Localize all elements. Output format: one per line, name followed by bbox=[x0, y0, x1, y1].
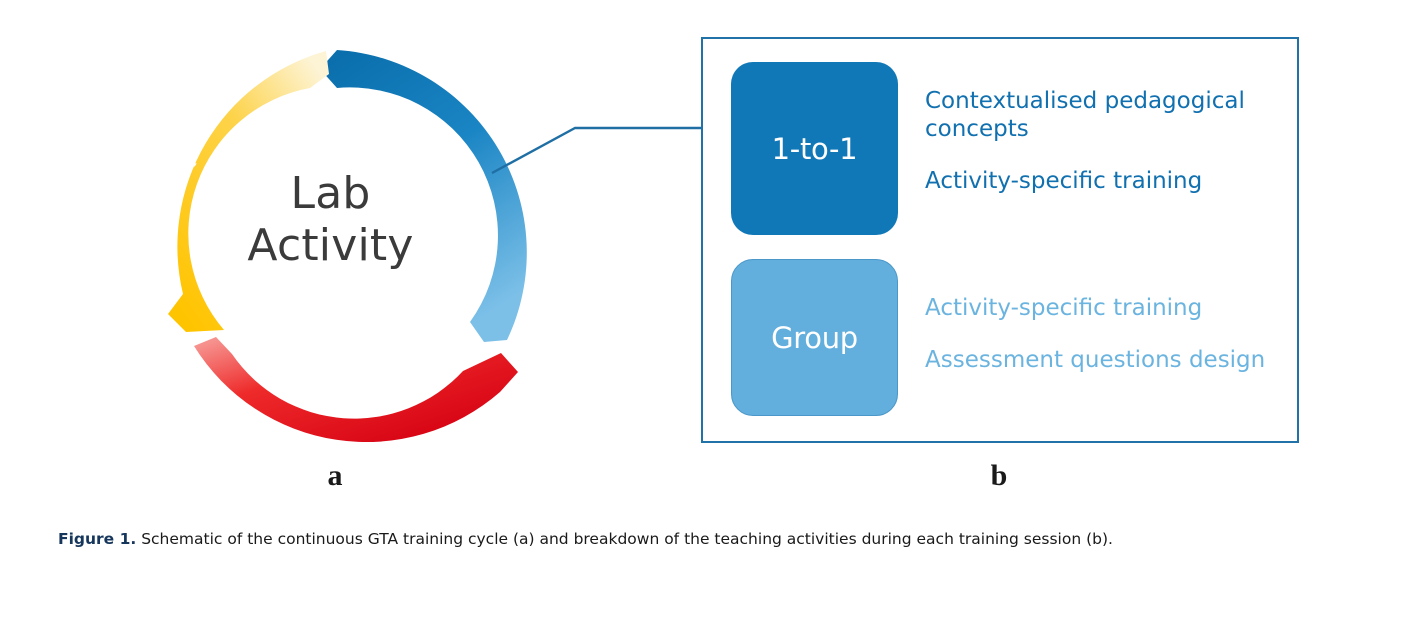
cycle-segment-training bbox=[320, 50, 527, 342]
figure-container: Training Teaching Feedback Lab Activity … bbox=[0, 0, 1418, 629]
role-box-one-to-one[interactable]: 1-to-1 bbox=[731, 62, 898, 235]
activity-list-one-to-one: Contextualised pedagogical concepts Acti… bbox=[925, 87, 1285, 195]
cycle-donut-svg: Training Teaching Feedback bbox=[130, 20, 550, 460]
cycle-label-feedback: Feedback bbox=[148, 151, 202, 280]
subfigure-label-b: b bbox=[969, 459, 1029, 493]
role-box-one-to-one-label: 1-to-1 bbox=[772, 132, 858, 166]
activity-item: Activity-specific training bbox=[925, 294, 1297, 322]
breakdown-panel: 1-to-1 Contextualised pedagogical concep… bbox=[701, 37, 1299, 443]
activity-item: Contextualised pedagogical concepts bbox=[925, 87, 1285, 143]
role-box-group-label: Group bbox=[771, 321, 858, 355]
activity-item: Activity-specific training bbox=[925, 167, 1285, 195]
cycle-label-teaching: Teaching bbox=[281, 355, 394, 398]
activity-list-group: Activity-specific training Assessment qu… bbox=[925, 294, 1297, 374]
figure-caption-label: Figure 1. bbox=[58, 530, 136, 548]
activity-item: Assessment questions design bbox=[925, 346, 1297, 374]
role-box-group[interactable]: Group bbox=[731, 259, 898, 416]
figure-caption-text: Schematic of the continuous GTA training… bbox=[136, 530, 1113, 548]
cycle-diagram-panel: Training Teaching Feedback Lab Activity bbox=[130, 20, 550, 460]
cycle-segment-feedback bbox=[168, 51, 329, 332]
figure-caption: Figure 1. Schematic of the continuous GT… bbox=[58, 527, 1368, 551]
subfigure-label-a: a bbox=[305, 459, 365, 493]
